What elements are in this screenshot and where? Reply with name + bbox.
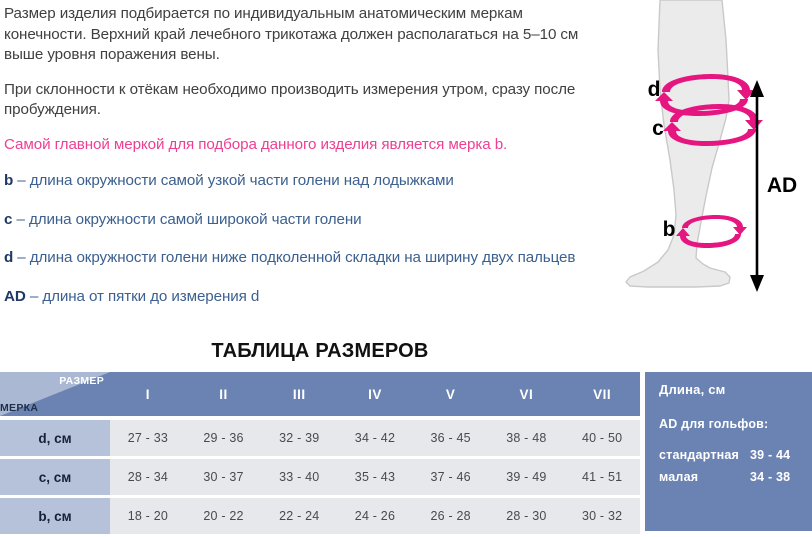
cell-b-6: 28 - 30 — [489, 497, 565, 536]
column-header-7: VII — [564, 372, 640, 416]
measurement-dash-d: – — [13, 249, 30, 266]
cell-b-4: 24 - 26 — [337, 497, 413, 536]
cell-c-1: 28 - 34 — [110, 458, 186, 497]
cell-b-3: 22 - 24 — [261, 497, 337, 536]
measurement-key-d: d — [4, 249, 13, 266]
length-panel-row-standard: стандартная 39 - 44 — [659, 448, 800, 462]
corner-size-label: РАЗМЕР — [59, 375, 104, 387]
length-panel-title: Длина, см — [659, 382, 800, 397]
table-header-row: РАЗМЕР МЕРКА I II III IV V VI VII — [0, 372, 640, 416]
diagram-label-c: c — [652, 117, 664, 140]
measurement-item-ad: AD – длина от пятки до измерения d — [4, 287, 596, 308]
measurement-text-b: длина окружности самой узкой части голен… — [30, 172, 454, 189]
length-standard-name: стандартная — [659, 448, 739, 462]
table-row: c, см 28 - 34 30 - 37 33 - 40 35 - 43 37… — [0, 458, 640, 497]
highlight-note: Самой главной меркой для подбора данного… — [4, 135, 596, 156]
corner-measure-label: МЕРКА — [0, 402, 38, 414]
length-small-value: 34 - 38 — [750, 470, 800, 484]
diagram-label-b: b — [663, 218, 676, 241]
column-header-3: III — [261, 372, 337, 416]
size-table: РАЗМЕР МЕРКА I II III IV V VI VII d, см … — [0, 372, 640, 537]
intro-paragraph-1: Размер изделия подбирается по индивидуал… — [4, 4, 596, 66]
leg-measurement-diagram: d c b AD — [600, 0, 812, 330]
column-header-2: II — [186, 372, 262, 416]
cell-c-7: 41 - 51 — [564, 458, 640, 497]
column-header-6: VI — [489, 372, 565, 416]
row-label-c: c, см — [0, 458, 110, 497]
cell-d-7: 40 - 50 — [564, 420, 640, 458]
measurement-text-ad: длина от пятки до измерения d — [42, 288, 259, 305]
length-small-name: малая — [659, 470, 698, 484]
length-standard-value: 39 - 44 — [750, 448, 800, 462]
cell-c-4: 35 - 43 — [337, 458, 413, 497]
measurement-text-d: длина окружности голени ниже подколенной… — [30, 249, 576, 266]
measurement-key-b: b — [4, 172, 13, 189]
cell-b-5: 26 - 28 — [413, 497, 489, 536]
table-row: b, см 18 - 20 20 - 22 22 - 24 24 - 26 26… — [0, 497, 640, 536]
measurement-dash-ad: – — [26, 288, 43, 305]
cell-d-2: 29 - 36 — [186, 420, 262, 458]
cell-d-3: 32 - 39 — [261, 420, 337, 458]
column-header-5: V — [413, 372, 489, 416]
cell-c-2: 30 - 37 — [186, 458, 262, 497]
measurement-key-ad: AD — [4, 288, 26, 305]
row-label-d: d, см — [0, 420, 110, 458]
table-row: d, см 27 - 33 29 - 36 32 - 39 34 - 42 36… — [0, 420, 640, 458]
column-header-4: IV — [337, 372, 413, 416]
instructions-text-column: Размер изделия подбирается по индивидуал… — [4, 4, 596, 325]
cell-d-6: 38 - 48 — [489, 420, 565, 458]
measurement-item-d: d – длина окружности голени ниже подколе… — [4, 248, 596, 269]
intro-paragraph-2: При склонности к отёкам необходимо произ… — [4, 80, 596, 121]
measurement-item-c: c – длина окружности самой широкой части… — [4, 210, 596, 231]
column-header-1: I — [110, 372, 186, 416]
page-title: ТАБЛИЦА РАЗМЕРОВ — [0, 340, 640, 363]
row-label-b: b, см — [0, 497, 110, 536]
cell-b-2: 20 - 22 — [186, 497, 262, 536]
cell-d-1: 27 - 33 — [110, 420, 186, 458]
length-panel-subtitle: AD для гольфов: — [659, 417, 800, 431]
measurement-text-c: длина окружности самой широкой части гол… — [29, 211, 362, 228]
diagram-label-ad: AD — [767, 174, 797, 197]
length-info-panel: Длина, см AD для гольфов: стандартная 39… — [645, 372, 812, 531]
length-panel-row-small: малая 34 - 38 — [659, 470, 800, 484]
cell-b-1: 18 - 20 — [110, 497, 186, 536]
measurement-dash-b: – — [13, 172, 30, 189]
cell-c-6: 39 - 49 — [489, 458, 565, 497]
cell-d-4: 34 - 42 — [337, 420, 413, 458]
cell-b-7: 30 - 32 — [564, 497, 640, 536]
table-corner-cell: РАЗМЕР МЕРКА — [0, 372, 110, 416]
cell-d-5: 36 - 45 — [413, 420, 489, 458]
diagram-label-d: d — [648, 78, 661, 101]
measurement-item-b: b – длина окружности самой узкой части г… — [4, 171, 596, 192]
size-table-grid: РАЗМЕР МЕРКА I II III IV V VI VII d, см … — [0, 372, 640, 537]
cell-c-3: 33 - 40 — [261, 458, 337, 497]
measurement-dash-c: – — [12, 211, 29, 228]
cell-c-5: 37 - 46 — [413, 458, 489, 497]
